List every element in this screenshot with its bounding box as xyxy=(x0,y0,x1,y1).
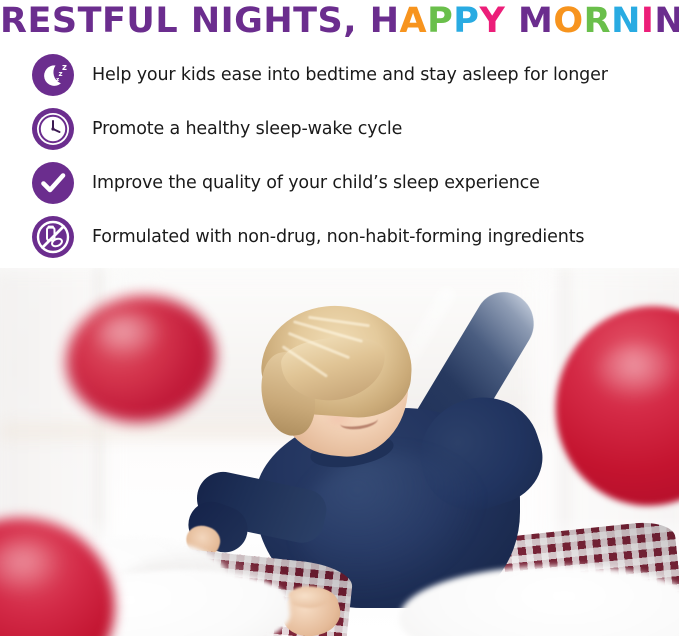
title-letter: I xyxy=(641,0,655,44)
clock-icon xyxy=(31,107,75,151)
title-letter: T xyxy=(78,0,102,44)
title-letter: T xyxy=(293,0,317,44)
list-item-label: Improve the quality of your child’s slee… xyxy=(92,173,540,193)
list-item: z z z Help your kids ease into bedtime a… xyxy=(0,48,679,102)
svg-text:z: z xyxy=(56,77,59,83)
svg-text:z: z xyxy=(62,63,67,73)
title-letter: I xyxy=(221,0,235,44)
title-letter: H xyxy=(370,0,400,44)
title-letter: E xyxy=(27,0,51,44)
title-letter: P xyxy=(453,0,479,44)
checkmark-icon xyxy=(31,161,75,205)
list-item: Promote a healthy sleep-wake cycle xyxy=(0,102,679,156)
title-letter xyxy=(505,0,518,44)
list-item: Formulated with non-drug, non-habit-form… xyxy=(0,210,679,264)
title-letter: G xyxy=(234,0,263,44)
title-letter: O xyxy=(553,0,583,44)
title-letter: N xyxy=(611,0,641,44)
title-letter: R xyxy=(0,0,27,44)
title-letter: N xyxy=(191,0,221,44)
title-letter: N xyxy=(654,0,679,44)
moon-zzz-icon: z z z xyxy=(31,53,75,97)
title-letter: P xyxy=(427,0,453,44)
title-letter: S xyxy=(318,0,344,44)
title-letter: S xyxy=(52,0,78,44)
list-item: Improve the quality of your child’s slee… xyxy=(0,156,679,210)
title-letter: R xyxy=(584,0,611,44)
title-letter: A xyxy=(400,0,428,44)
toes xyxy=(288,586,330,608)
feature-list: z z z Help your kids ease into bedtime a… xyxy=(0,48,679,264)
no-drug-icon xyxy=(31,215,75,259)
title-letter: U xyxy=(126,0,155,44)
title-letter: L xyxy=(155,0,178,44)
list-item-label: Promote a healthy sleep-wake cycle xyxy=(92,119,402,139)
title-letter: F xyxy=(102,0,126,44)
page-title: RESTFUL NIGHTS, HAPPY MORNINGS xyxy=(0,0,679,44)
title-letter xyxy=(357,0,370,44)
title-letter: M xyxy=(518,0,553,44)
product-infographic: RESTFUL NIGHTS, HAPPY MORNINGS z z z Hel… xyxy=(0,0,679,636)
title-letter: Y xyxy=(479,0,505,44)
title-letter: H xyxy=(263,0,293,44)
title-letter xyxy=(178,0,191,44)
lifestyle-photo xyxy=(0,268,679,636)
title-letter: , xyxy=(343,0,357,44)
list-item-label: Help your kids ease into bedtime and sta… xyxy=(92,65,608,85)
list-item-label: Formulated with non-drug, non-habit-form… xyxy=(92,227,584,247)
